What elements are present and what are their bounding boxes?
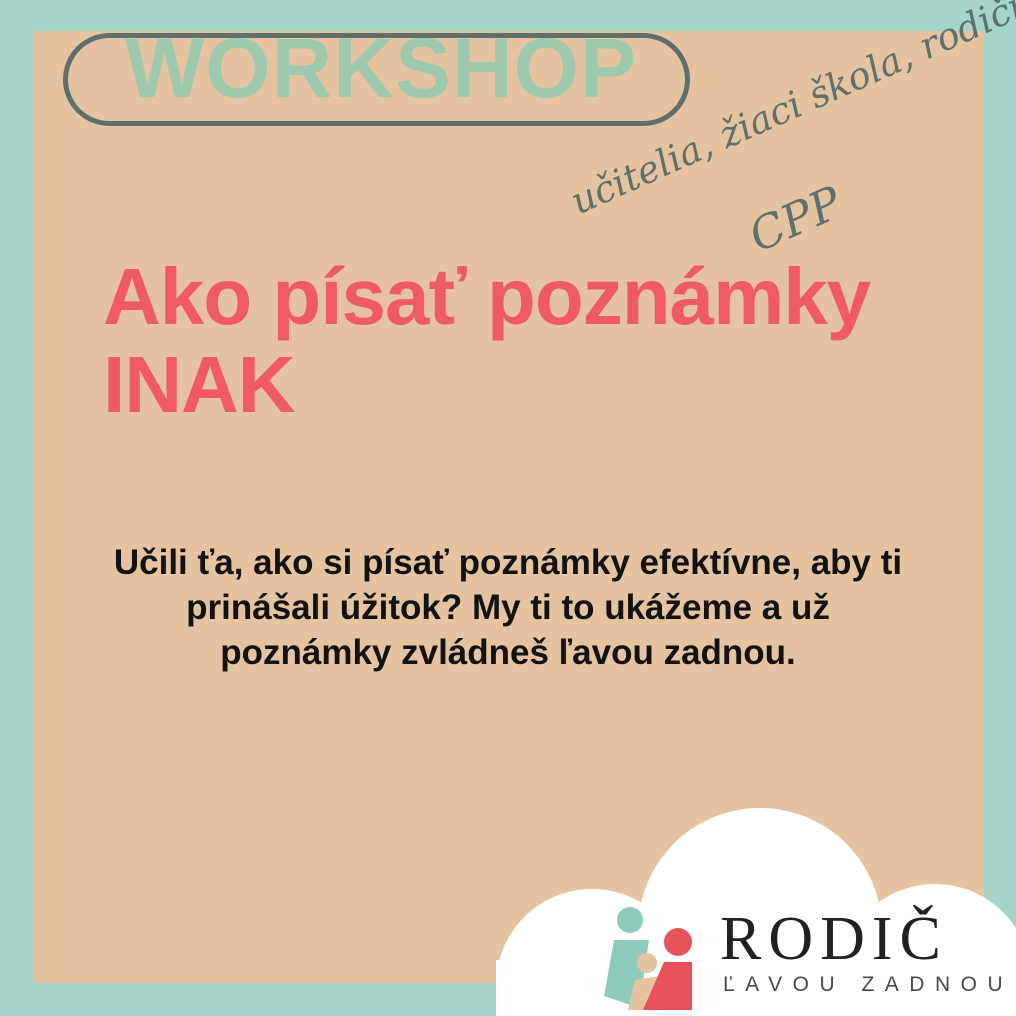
brand-wordmark: RODIČ ĽAVOU ZADNOU [720,906,992,997]
brand-name: RODIČ [720,906,992,972]
family-figures-icon [592,904,714,1016]
body-copy-line-1: Učili ťa, ako si písať poznámky efektívn… [58,540,958,585]
brand-logo: RODIČ ĽAVOU ZADNOU [592,904,992,1016]
body-copy: Učili ťa, ako si písať poznámky efektívn… [58,540,958,675]
body-copy-line-3: poznámky zvládneš ľavou zadnou. [58,630,958,675]
brand-tagline: ĽAVOU ZADNOU [723,973,992,997]
body-copy-line-2: prinášali úžitok? My ti to ukážeme a už [58,585,958,630]
workshop-badge-label: WORKSHOP [86,26,676,110]
poster-canvas: WORKSHOP učitelia, žiaci škola, rodičia,… [0,0,1016,1016]
page-title: Ako písať poznámky INAK [103,253,933,429]
content-panel [33,31,984,983]
page-title-line-2: INAK [103,341,933,429]
page-title-line-1: Ako písať poznámky [103,253,933,341]
